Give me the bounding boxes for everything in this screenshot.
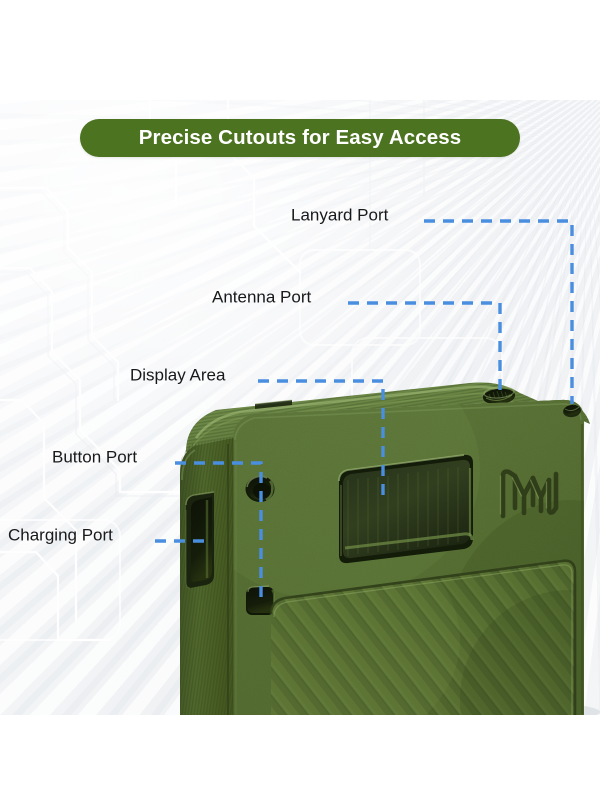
product-infographic: Precise Cutouts for Easy Access Lanyard … (0, 0, 600, 800)
leader-button-port (175, 463, 261, 597)
callout-label-antenna-port: Antenna Port (212, 289, 311, 306)
leader-display-area (258, 381, 383, 502)
callout-label-display-area: Display Area (130, 367, 225, 384)
section-title-banner: Precise Cutouts for Easy Access (80, 119, 520, 157)
leader-antenna-port (348, 303, 500, 392)
callout-label-lanyard-port: Lanyard Port (291, 207, 388, 224)
section-title-text: Precise Cutouts for Easy Access (139, 126, 462, 150)
callout-label-charging-port: Charging Port (8, 527, 113, 544)
callout-label-button-port: Button Port (52, 449, 137, 466)
leader-lanyard-port (424, 221, 572, 404)
